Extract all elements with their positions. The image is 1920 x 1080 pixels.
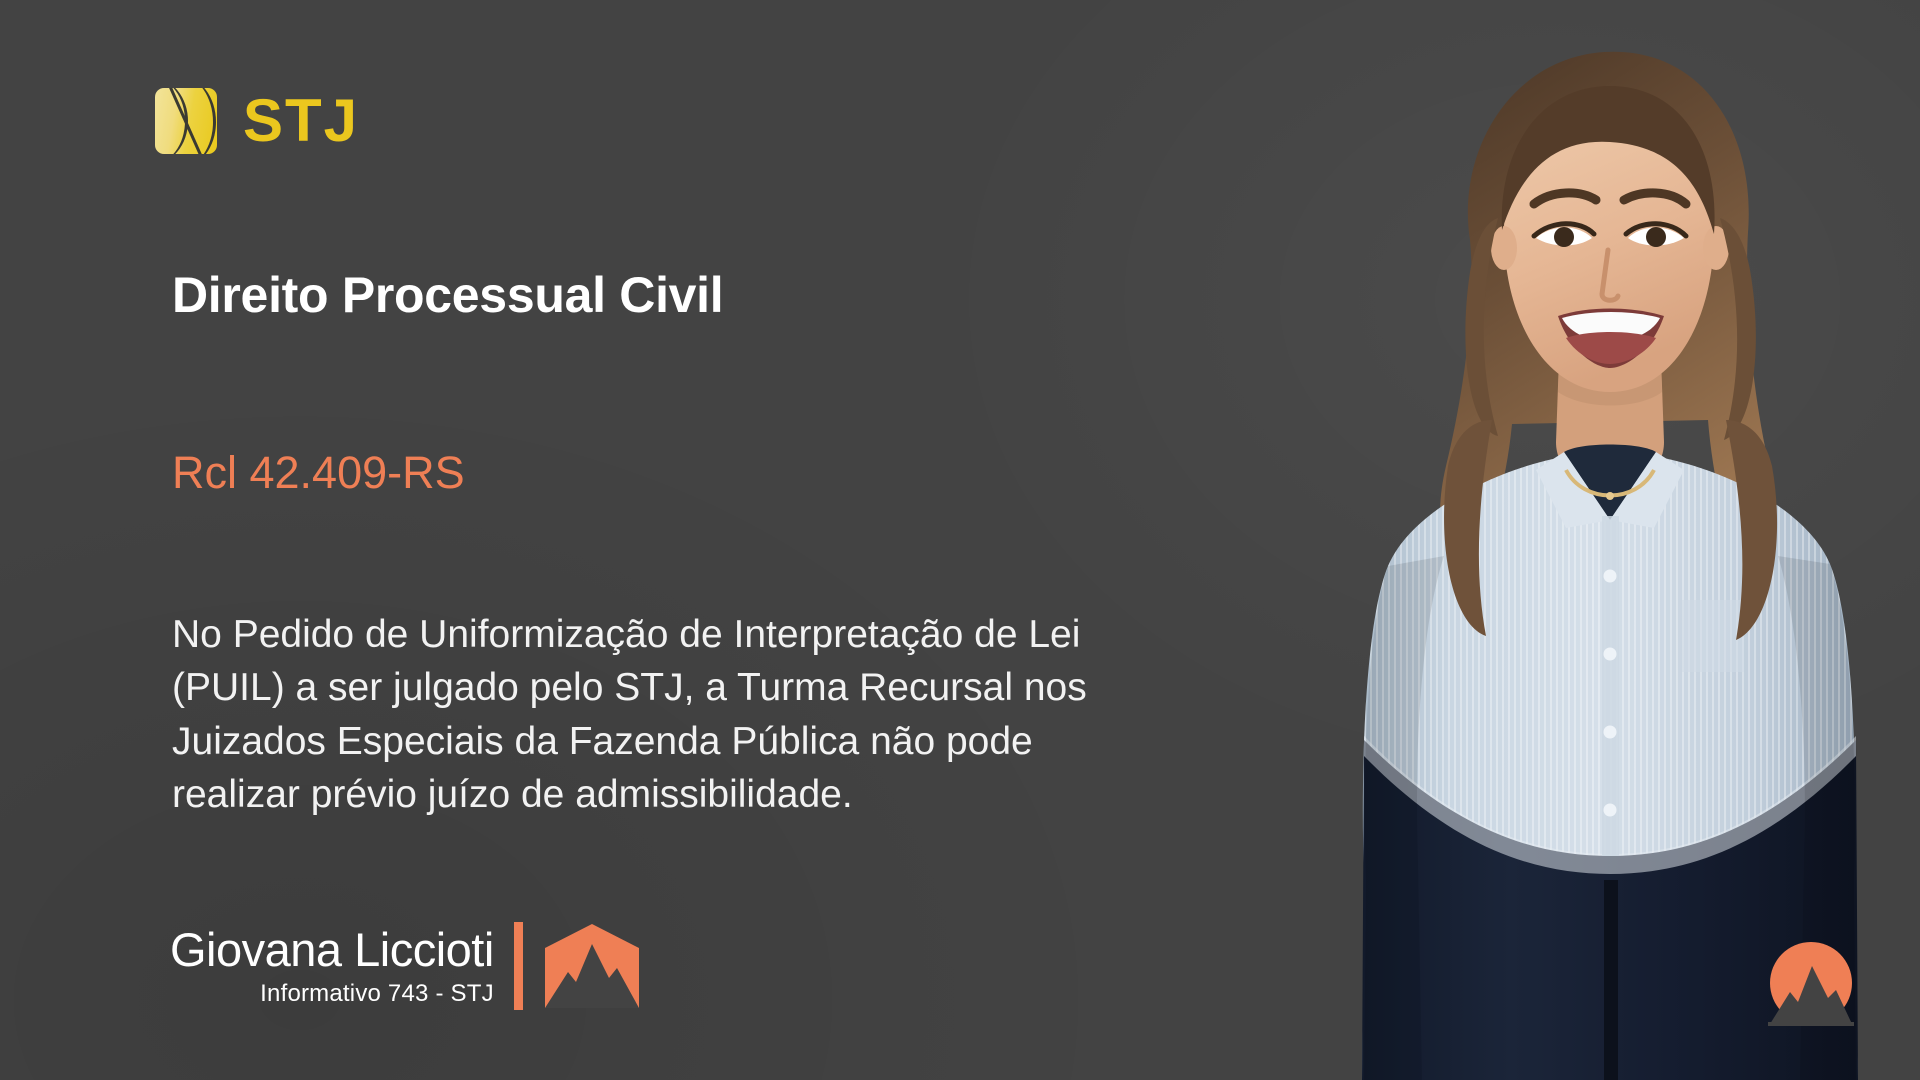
mountain-peak-icon [543, 922, 641, 1010]
signature-text-block: Giovana Liccioti Informativo 743 - STJ [170, 926, 494, 1006]
presenter-portrait [1352, 0, 1882, 1080]
signature-divider [514, 922, 523, 1010]
summary-line: No Pedido de Uniformização de Interpreta… [172, 608, 1462, 661]
presenter-signature: Giovana Liccioti Informativo 743 - STJ [170, 922, 641, 1010]
stj-logo-text: STJ [243, 91, 359, 151]
page-title: Direito Processual Civil [172, 268, 723, 323]
case-number: Rcl 42.409-RS [172, 448, 465, 498]
stj-emblem-icon [155, 88, 217, 154]
summary-line: realizar prévio juízo de admissibilidade… [172, 768, 1462, 821]
summary-text: No Pedido de Uniformização de Interpreta… [172, 608, 1462, 822]
signature-subtitle: Informativo 743 - STJ [260, 982, 494, 1006]
stj-logo: STJ [155, 88, 359, 154]
summary-line: Juizados Especiais da Fazenda Pública nã… [172, 715, 1462, 768]
mountain-circle-badge-icon [1768, 940, 1854, 1026]
summary-line: (PUIL) a ser julgado pelo STJ, a Turma R… [172, 661, 1462, 714]
signature-name: Giovana Liccioti [170, 926, 494, 973]
slide-canvas: STJ Direito Processual Civil Rcl 42.409-… [0, 0, 1920, 1080]
